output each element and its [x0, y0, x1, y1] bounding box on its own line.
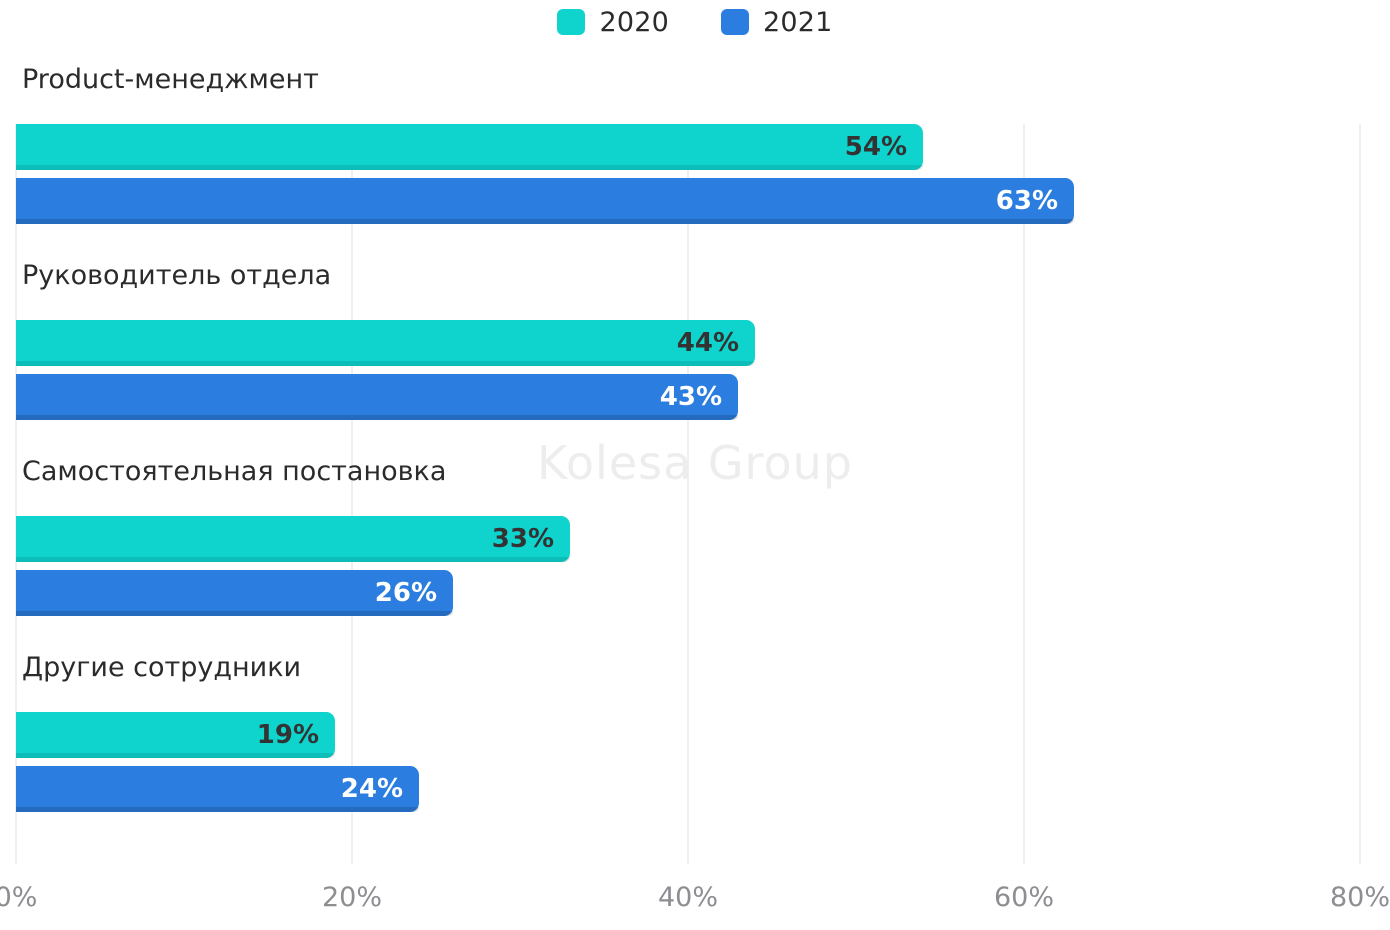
x-tick-20: 20% [322, 884, 382, 911]
bar-2021-0[interactable]: 63% [16, 178, 1074, 224]
bar-2020-2[interactable]: 33% [16, 516, 570, 562]
legend-swatch-icon [557, 9, 585, 35]
bar-2020-0[interactable]: 54% [16, 124, 923, 170]
bar-value-label: 63% [996, 188, 1074, 214]
category-label-2: Самостоятельная постановка [22, 458, 446, 485]
category-label-3: Другие сотрудники [22, 654, 301, 681]
bar-value-label: 24% [341, 776, 419, 802]
bar-2020-3[interactable]: 19% [16, 712, 335, 758]
bar-value-label: 43% [660, 384, 738, 410]
horizontal-bar-chart: 2020 2021 Kolesa Group Product-менеджмен… [0, 0, 1390, 930]
bar-value-label: 33% [492, 526, 570, 552]
category-label-0: Product-менеджмент [22, 66, 319, 93]
legend-label-2021: 2021 [763, 9, 833, 36]
x-axis: 0% 20% 40% 60% 80% [0, 884, 1390, 930]
bar-value-label: 26% [375, 580, 453, 606]
plot-area: Kolesa Group Product-менеджмент 54% 63% [0, 44, 1390, 884]
bar-value-label: 19% [257, 722, 335, 748]
bar-2021-2[interactable]: 26% [16, 570, 453, 616]
category-label-1: Руководитель отдела [22, 262, 331, 289]
x-tick-0: 0% [0, 884, 37, 911]
bar-2020-1[interactable]: 44% [16, 320, 755, 366]
x-tick-80: 80% [1330, 884, 1390, 911]
bar-2021-3[interactable]: 24% [16, 766, 419, 812]
bar-value-label: 44% [677, 330, 755, 356]
bar-2021-1[interactable]: 43% [16, 374, 738, 420]
legend-label-2020: 2020 [599, 9, 669, 36]
bar-groups: Product-менеджмент 54% 63% Руководитель … [0, 44, 1390, 884]
legend-swatch-icon [721, 9, 749, 35]
bar-value-label: 54% [845, 134, 923, 160]
legend-item-2020[interactable]: 2020 [557, 9, 669, 36]
x-tick-60: 60% [994, 884, 1054, 911]
chart-legend: 2020 2021 [0, 0, 1390, 44]
x-tick-40: 40% [658, 884, 718, 911]
legend-item-2021[interactable]: 2021 [721, 9, 833, 36]
